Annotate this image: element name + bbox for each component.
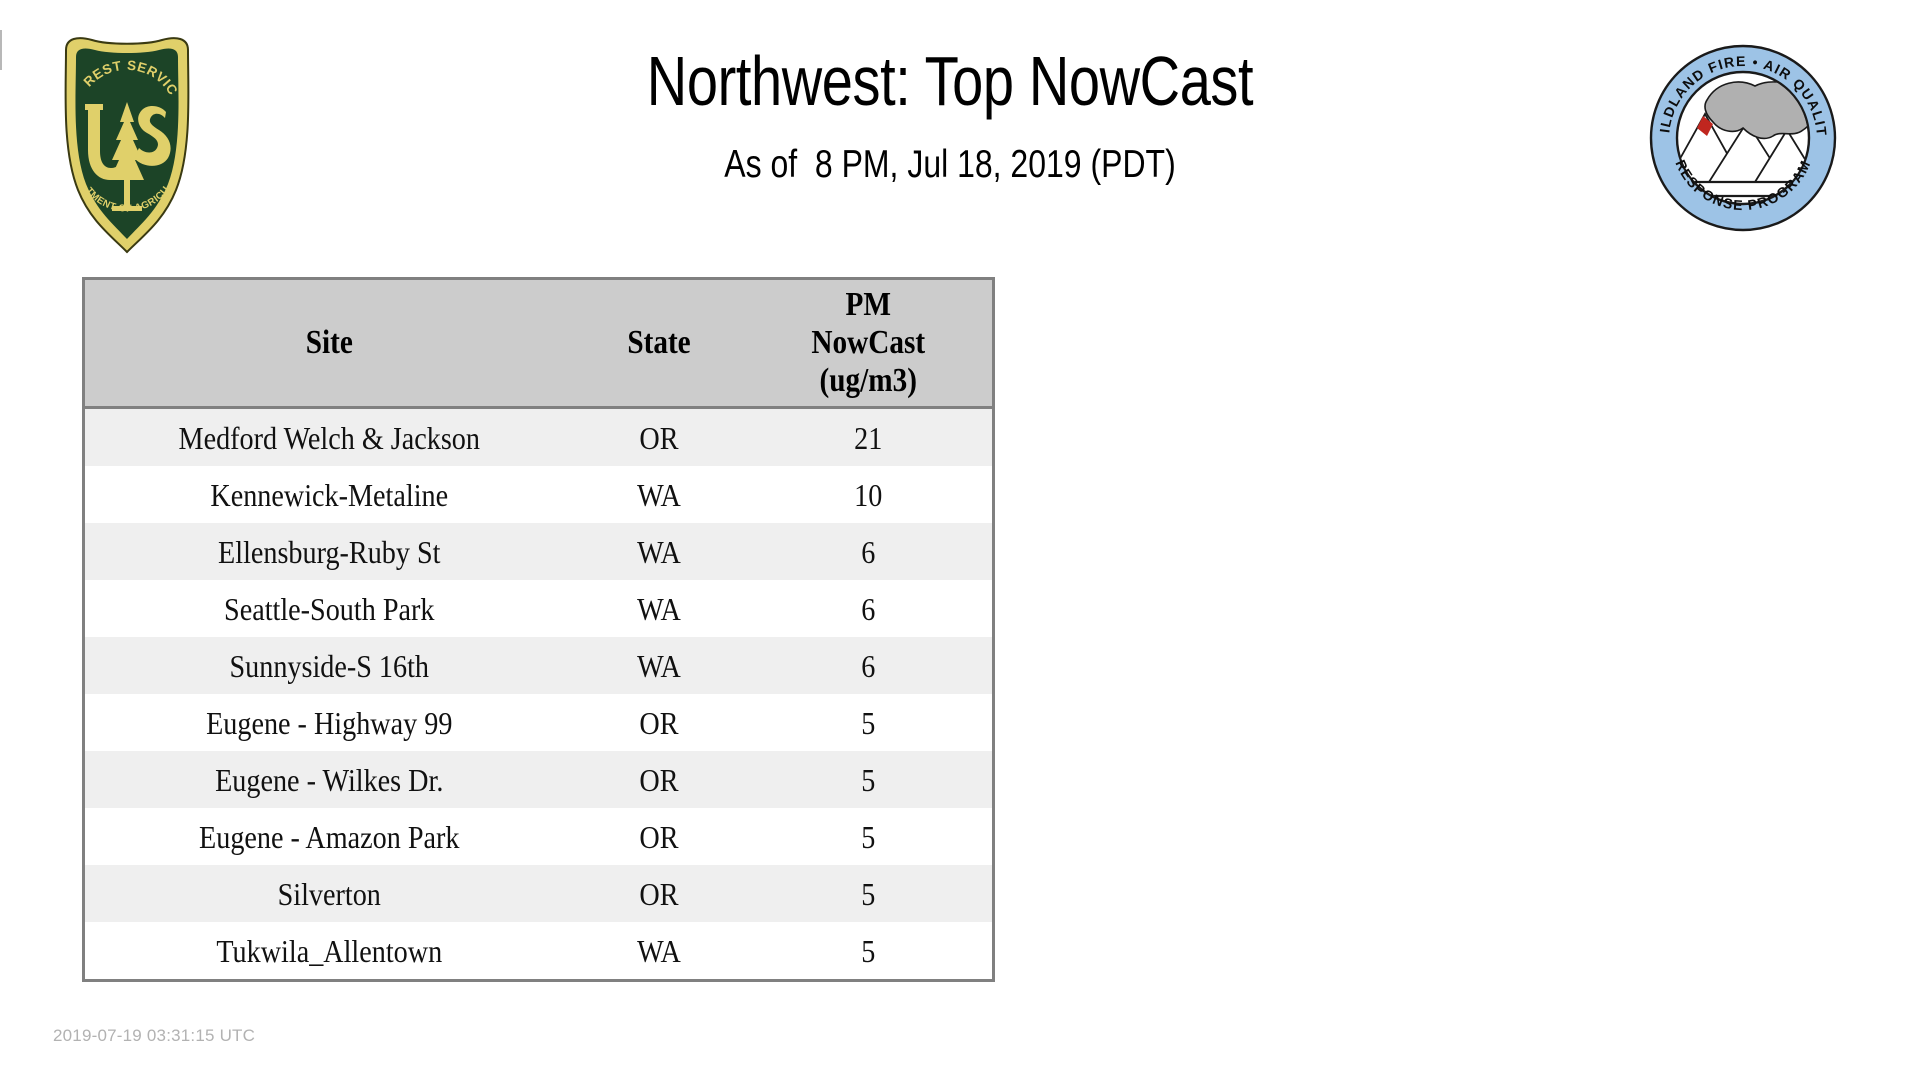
cell-site-value: Kennewick-Metaline <box>120 477 539 513</box>
column-header-pm-line-2: NowCast <box>766 324 969 362</box>
column-header-pm-nowcast: PM NowCast (ug/m3) <box>744 279 994 408</box>
cell-pm-nowcast-value: 6 <box>764 591 972 627</box>
column-header-state-label: State <box>591 324 727 362</box>
cell-state: WA <box>574 466 744 523</box>
nowcast-table: Site State PM NowCast (ug/m3) Medford We… <box>82 277 995 982</box>
cell-site: Silverton <box>84 865 574 922</box>
cell-site: Eugene - Amazon Park <box>84 808 574 865</box>
cell-state-value: WA <box>589 648 728 684</box>
cell-pm-nowcast: 5 <box>744 922 994 981</box>
table-body: Medford Welch & JacksonOR21Kennewick-Met… <box>84 408 994 981</box>
table-row: Sunnyside-S 16thWA6 <box>84 637 994 694</box>
cell-pm-nowcast-value: 6 <box>764 534 972 570</box>
cell-pm-nowcast-value: 5 <box>764 819 972 855</box>
cell-state: OR <box>574 751 744 808</box>
page-header: FOREST SERVICE DEPARTMENT OF AGRICULTURE… <box>0 0 1920 270</box>
cell-pm-nowcast: 6 <box>744 637 994 694</box>
cell-pm-nowcast: 5 <box>744 694 994 751</box>
column-header-site-label: Site <box>124 324 534 362</box>
cell-state-value: WA <box>589 933 728 969</box>
cell-state: WA <box>574 523 744 580</box>
column-header-state: State <box>574 279 744 408</box>
nowcast-table-container: Site State PM NowCast (ug/m3) Medford We… <box>82 277 992 982</box>
table-row: Medford Welch & JacksonOR21 <box>84 408 994 467</box>
cell-pm-nowcast: 5 <box>744 751 994 808</box>
cell-site: Medford Welch & Jackson <box>84 408 574 467</box>
cell-pm-nowcast-value: 5 <box>764 762 972 798</box>
usda-forest-service-shield-icon: FOREST SERVICE DEPARTMENT OF AGRICULTURE <box>52 30 202 258</box>
cell-state-value: OR <box>589 876 728 912</box>
cell-site: Eugene - Highway 99 <box>84 694 574 751</box>
cell-pm-nowcast-value: 6 <box>764 648 972 684</box>
cell-site-value: Tukwila_Allentown <box>120 933 539 969</box>
column-header-pm-line-1: PM <box>766 286 969 324</box>
cell-state: OR <box>574 808 744 865</box>
cell-site: Seattle-South Park <box>84 580 574 637</box>
cell-pm-nowcast-value: 21 <box>764 420 972 456</box>
table-row: SilvertonOR5 <box>84 865 994 922</box>
page-title: Northwest: Top NowCast <box>398 40 1502 122</box>
cell-site: Ellensburg-Ruby St <box>84 523 574 580</box>
cell-site: Sunnyside-S 16th <box>84 637 574 694</box>
cell-site-value: Sunnyside-S 16th <box>120 648 539 684</box>
cell-pm-nowcast-value: 5 <box>764 705 972 741</box>
cell-pm-nowcast: 6 <box>744 580 994 637</box>
cell-site: Tukwila_Allentown <box>84 922 574 981</box>
table-row: Eugene - Amazon ParkOR5 <box>84 808 994 865</box>
wildland-fire-air-quality-response-program-icon: WILDLAND FIRE • AIR QUALITY RESPONSE PRO… <box>1647 42 1839 234</box>
cell-pm-nowcast: 21 <box>744 408 994 467</box>
cell-site-value: Eugene - Amazon Park <box>120 819 539 855</box>
cell-site-value: Eugene - Highway 99 <box>120 705 539 741</box>
table-row: Eugene - Highway 99OR5 <box>84 694 994 751</box>
table-header: Site State PM NowCast (ug/m3) <box>84 279 994 408</box>
page-subtitle: As of 8 PM, Jul 18, 2019 (PDT) <box>384 142 1516 188</box>
table-row: Eugene - Wilkes Dr.OR5 <box>84 751 994 808</box>
cell-site-value: Ellensburg-Ruby St <box>120 534 539 570</box>
cell-state: OR <box>574 408 744 467</box>
cell-state-value: OR <box>589 762 728 798</box>
table-row: Ellensburg-Ruby StWA6 <box>84 523 994 580</box>
cell-pm-nowcast: 5 <box>744 865 994 922</box>
cell-state-value: OR <box>589 420 728 456</box>
cell-state: OR <box>574 694 744 751</box>
cell-pm-nowcast-value: 5 <box>764 876 972 912</box>
cell-state: WA <box>574 580 744 637</box>
cell-site-value: Seattle-South Park <box>120 591 539 627</box>
table-row: Tukwila_AllentownWA5 <box>84 922 994 981</box>
cell-pm-nowcast: 10 <box>744 466 994 523</box>
cell-pm-nowcast: 5 <box>744 808 994 865</box>
cell-state: WA <box>574 922 744 981</box>
title-block: Northwest: Top NowCast As of 8 PM, Jul 1… <box>260 40 1640 188</box>
cell-state-value: WA <box>589 477 728 513</box>
column-header-pm-line-3: (ug/m3) <box>766 362 969 400</box>
table-row: Seattle-South ParkWA6 <box>84 580 994 637</box>
cell-state: OR <box>574 865 744 922</box>
cell-pm-nowcast: 6 <box>744 523 994 580</box>
cell-site: Eugene - Wilkes Dr. <box>84 751 574 808</box>
cell-state-value: WA <box>589 534 728 570</box>
cell-pm-nowcast-value: 10 <box>764 477 972 513</box>
cell-state-value: OR <box>589 819 728 855</box>
cell-site-value: Silverton <box>120 876 539 912</box>
cell-site-value: Eugene - Wilkes Dr. <box>120 762 539 798</box>
column-header-site: Site <box>84 279 574 408</box>
cell-state-value: WA <box>589 591 728 627</box>
table-header-row: Site State PM NowCast (ug/m3) <box>84 279 994 408</box>
cell-pm-nowcast-value: 5 <box>764 933 972 969</box>
cell-site-value: Medford Welch & Jackson <box>120 420 539 456</box>
table-row: Kennewick-MetalineWA10 <box>84 466 994 523</box>
footer-timestamp: 2019-07-19 03:31:15 UTC <box>53 1026 255 1046</box>
cell-site: Kennewick-Metaline <box>84 466 574 523</box>
cell-state: WA <box>574 637 744 694</box>
cell-state-value: OR <box>589 705 728 741</box>
